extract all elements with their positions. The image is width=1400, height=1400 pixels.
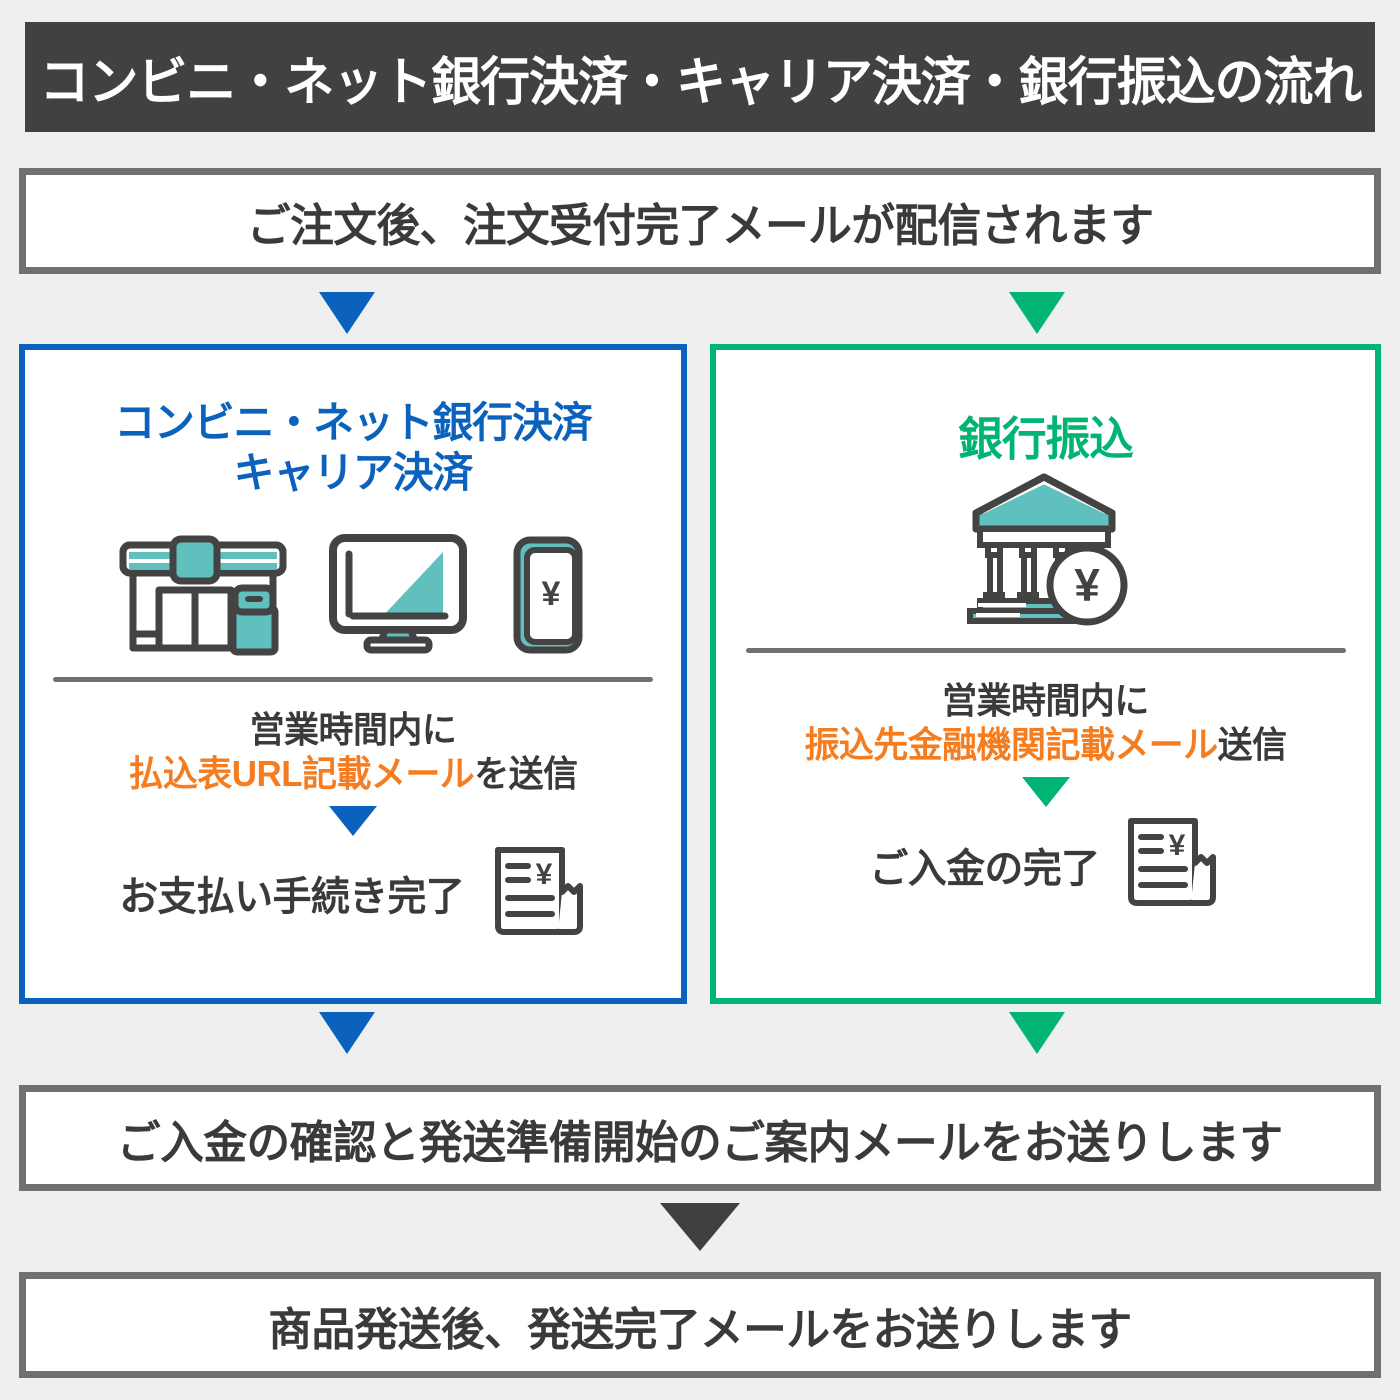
- panel-bank-note-line1: 営業時間内に: [726, 679, 1365, 723]
- panel-convenience-note-suffix: を送信: [474, 753, 577, 794]
- arrow-down-to-shipped: [660, 1203, 740, 1251]
- desktop-monitor-icon: [325, 530, 471, 661]
- panel-convenience-note-highlight: 払込表URL記載メール: [128, 753, 474, 794]
- arrow-down-from-bank-panel: [1009, 1012, 1065, 1054]
- step-payment-confirmed: ご入金の確認と発送準備開始のご案内メールをお送りします: [19, 1085, 1381, 1191]
- panel-bank-note-highlight: 振込先金融機関記載メール: [804, 724, 1217, 765]
- panel-convenience-heading-line1: コンビニ・ネット銀行決済: [35, 398, 671, 448]
- convenience-icon-row: ¥: [25, 521, 681, 661]
- flow-diagram-page: コンビニ・ネット銀行決済・キャリア決済・銀行振込の流れ ご注文後、注文受付完了メ…: [0, 0, 1400, 1400]
- panel-bank-note-suffix: 送信: [1218, 724, 1287, 765]
- panel-bank-heading-line1: 銀行振込: [726, 412, 1365, 466]
- panel-convenience-note-line2: 払込表URL記載メールを送信: [35, 752, 671, 796]
- panel-convenience-heading: コンビニ・ネット銀行決済 キャリア決済: [35, 398, 671, 497]
- panel-bank-divider: [746, 648, 1346, 653]
- step-payment-confirmed-label: ご入金の確認と発送準備開始のご案内メールをお送りします: [117, 1106, 1282, 1171]
- step-shipment-complete: 商品発送後、発送完了メールをお送りします: [19, 1272, 1381, 1378]
- panel-bank-heading: 銀行振込: [726, 412, 1365, 466]
- bank-icon-row: ¥: [716, 492, 1375, 632]
- panel-convenience-note: 営業時間内に 払込表URL記載メールを送信: [35, 708, 671, 796]
- panel-convenience-payment: コンビニ・ネット銀行決済 キャリア決済: [19, 344, 687, 1004]
- step-order-received-label: ご注文後、注文受付完了メールが配信されます: [247, 189, 1153, 254]
- panel-convenience-heading-line2: キャリア決済: [35, 448, 671, 498]
- panel-convenience-result-row: お支払い手続き完了 ¥: [25, 842, 681, 945]
- arrow-down-convenience-inner: [329, 806, 377, 836]
- panel-convenience-note-line1: 営業時間内に: [35, 708, 671, 752]
- step-shipment-complete-label: 商品発送後、発送完了メールをお送りします: [268, 1293, 1131, 1358]
- svg-text:¥: ¥: [1074, 559, 1100, 611]
- panel-bank-result-label: ご入金の完了: [870, 836, 1100, 894]
- convenience-store-icon: [115, 530, 291, 661]
- panel-convenience-result-label: お支払い手続き完了: [120, 864, 465, 922]
- panel-bank-result-row: ご入金の完了 ¥: [716, 813, 1375, 916]
- panel-bank-transfer: 銀行振込: [710, 344, 1381, 1004]
- svg-text:¥: ¥: [542, 575, 561, 613]
- bank-building-yen-icon: ¥: [956, 467, 1136, 632]
- page-title-bar: コンビニ・ネット銀行決済・キャリア決済・銀行振込の流れ: [25, 22, 1375, 132]
- panel-convenience-divider: [53, 677, 653, 682]
- page-title: コンビニ・ネット銀行決済・キャリア決済・銀行振込の流れ: [39, 40, 1361, 115]
- arrow-down-to-bank-panel: [1009, 292, 1065, 334]
- step-order-received: ご注文後、注文受付完了メールが配信されます: [19, 168, 1381, 274]
- panel-bank-inner-arrow-wrap: [716, 777, 1375, 807]
- svg-text:¥: ¥: [1169, 829, 1186, 862]
- arrow-down-bank-inner: [1022, 777, 1070, 807]
- arrow-down-from-cvs-panel: [319, 1012, 375, 1054]
- invoice-yen-icon: ¥: [484, 842, 592, 945]
- svg-text:¥: ¥: [535, 858, 552, 891]
- panel-convenience-inner-arrow-wrap: [25, 806, 681, 836]
- arrow-down-to-cvs-panel: [319, 292, 375, 334]
- panel-bank-note-line2: 振込先金融機関記載メール送信: [726, 723, 1365, 767]
- invoice-yen-icon: ¥: [1117, 813, 1225, 916]
- smartphone-yen-icon: ¥: [505, 530, 591, 661]
- panel-bank-note: 営業時間内に 振込先金融機関記載メール送信: [726, 679, 1365, 767]
